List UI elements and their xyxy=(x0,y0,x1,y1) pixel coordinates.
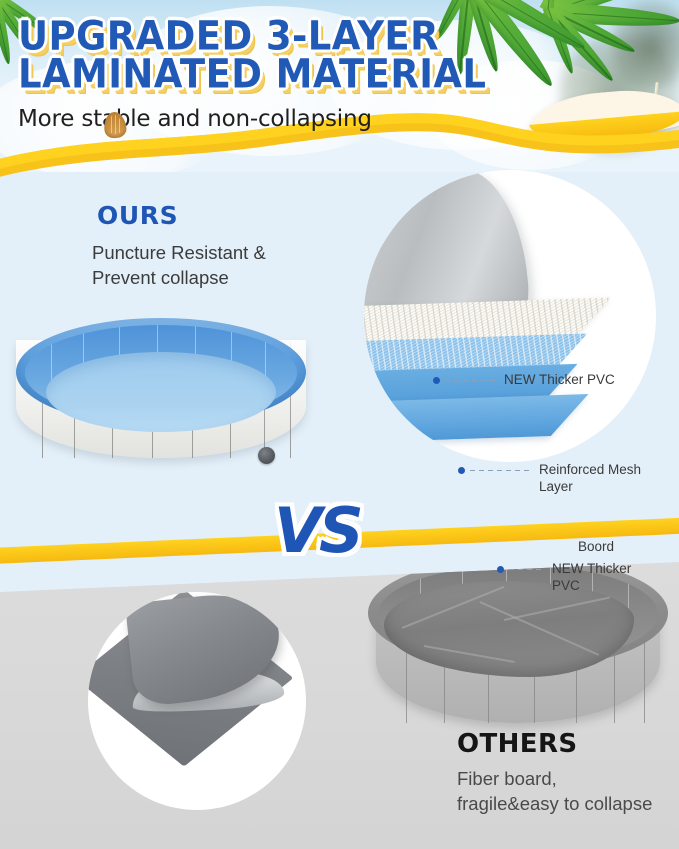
others-heading: OTHERS xyxy=(457,729,578,759)
callout-new-thicker-pvc-bottom: NEW Thicker PVC xyxy=(497,561,631,594)
callout-dot-icon xyxy=(433,377,440,384)
fiber-board-peel-diagram xyxy=(88,592,306,810)
ours-description: Puncture Resistant & Prevent collapse xyxy=(92,240,307,290)
ours-heading: OURS xyxy=(97,201,178,230)
callout-label: Reinforced Mesh Layer xyxy=(539,462,641,495)
callout-dash-line xyxy=(470,470,532,471)
callout-reinforced-mesh-layer: Reinforced Mesh Layer xyxy=(458,462,641,495)
pool-floor xyxy=(46,352,276,432)
layer-pvc-bottom xyxy=(364,394,588,444)
headline-subtitle: More stable and non-collapsing xyxy=(18,106,488,132)
drain-plug-icon xyxy=(258,447,275,464)
callout-label: NEW Thicker PVC xyxy=(504,372,615,389)
ours-pool-illustration xyxy=(16,318,306,478)
callout-dot-icon xyxy=(497,566,504,573)
others-section: OTHERS Fiber board, fragile&easy to coll… xyxy=(0,562,679,849)
callout-dash-line xyxy=(445,380,497,381)
others-description: Fiber board, fragile&easy to collapse xyxy=(457,766,657,816)
callout-new-thicker-pvc-top: NEW Thicker PVC xyxy=(433,372,615,389)
product-comparison-infographic: UPGRADED 3-LAYER LAMINATED MATERIAL More… xyxy=(0,0,679,849)
headline-block: UPGRADED 3-LAYER LAMINATED MATERIAL More… xyxy=(18,16,488,132)
headline-line-2: LAMINATED MATERIAL xyxy=(18,54,488,95)
callout-dot-icon xyxy=(458,467,465,474)
layer-structure-diagram xyxy=(364,170,656,462)
callout-label: NEW Thicker PVC xyxy=(552,561,631,594)
callout-dash-line xyxy=(509,569,545,570)
vs-badge: VS xyxy=(274,500,361,562)
